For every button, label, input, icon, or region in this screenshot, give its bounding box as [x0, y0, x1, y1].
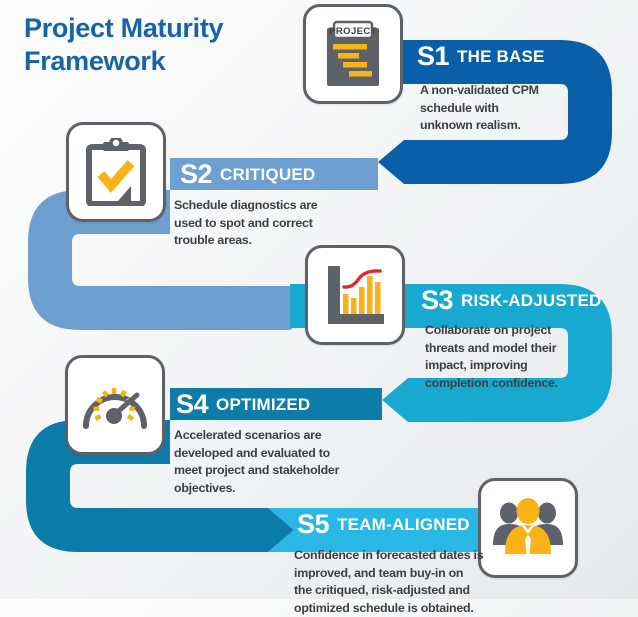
infographic-canvas: Project Maturity Framework PROJECT S1 TH…: [0, 0, 638, 599]
stage-banner-s3[interactable]: S3 RISK-ADJUSTED: [421, 284, 631, 317]
stage-banner-s2[interactable]: S2 CRITIQUED: [180, 158, 380, 191]
stage-banner-s5[interactable]: S5 TEAM-ALIGNED: [297, 508, 507, 541]
stage-label-s5: TEAM-ALIGNED: [337, 516, 470, 533]
stage-icon-tile-s2: [66, 122, 166, 222]
stage-number-s3: S3: [421, 287, 453, 314]
stage-description-s5: Confidence in forecasted dates is improv…: [294, 547, 484, 617]
speedometer-icon: [80, 374, 150, 436]
stage-number-s5: S5: [297, 511, 329, 538]
stage-label-s3: RISK-ADJUSTED: [461, 292, 602, 309]
bar-chart-trend-icon: [322, 262, 388, 328]
stage-icon-tile-s4: [65, 355, 165, 455]
clipboard-check-icon: [85, 138, 147, 206]
stage-banner-s1[interactable]: S1 THE BASE: [417, 40, 607, 73]
svg-text:PROJECT: PROJECT: [329, 26, 377, 37]
stage-description-s3: Collaborate on project threats and model…: [425, 322, 575, 392]
stage-description-s1: A non-validated CPM schedule with unknow…: [420, 82, 550, 135]
stage-number-s2: S2: [180, 161, 212, 188]
stage-number-s1: S1: [417, 43, 449, 70]
project-document-icon: PROJECT: [321, 20, 385, 88]
stage-label-s4: OPTIMIZED: [216, 396, 310, 413]
stage-number-s4: S4: [176, 391, 208, 418]
stage-icon-tile-s3: [305, 245, 405, 345]
stage-description-s2: Schedule diagnostics are used to spot an…: [174, 197, 319, 250]
stage-description-s4: Accelerated scenarios are developed and …: [174, 427, 354, 497]
stage-banner-s4[interactable]: S4 OPTIMIZED: [176, 388, 386, 421]
stage-label-s2: CRITIQUED: [220, 166, 315, 183]
stage-label-s1: THE BASE: [457, 48, 545, 65]
stage-icon-tile-s1: PROJECT: [303, 4, 403, 104]
page-title: Project Maturity Framework: [24, 12, 324, 78]
